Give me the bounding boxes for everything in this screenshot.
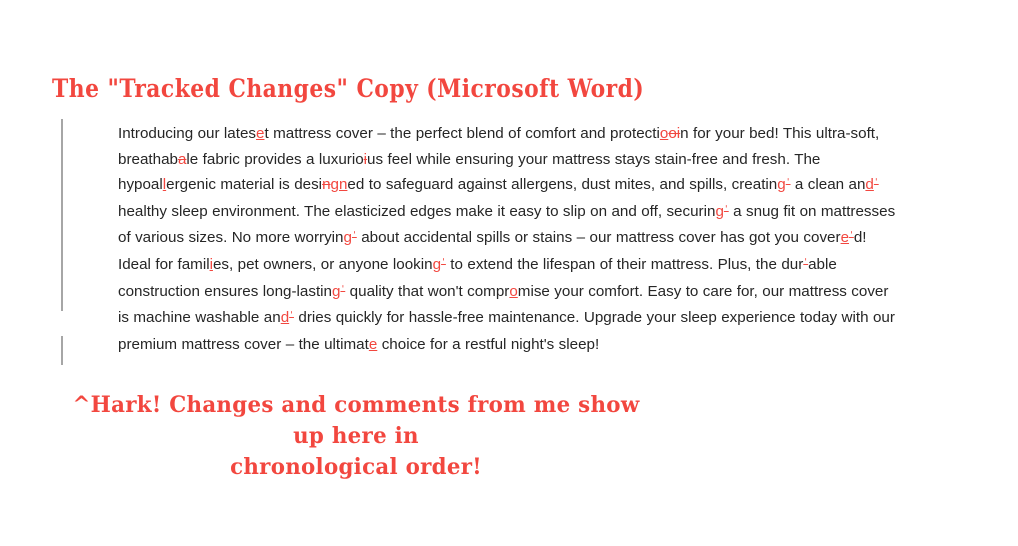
document-caption: ^Hark! Changes and comments from me show…: [55, 390, 656, 483]
body-text-run: quality that won't compr: [345, 283, 509, 300]
body-text-run: es, pet owners, or anyone lookin: [213, 256, 433, 273]
body-text-run: about accidental spills or stains – our …: [357, 229, 841, 246]
insertion-run: gn: [331, 176, 348, 193]
deletion-run: n: [322, 176, 330, 193]
body-text-run: le fabric provides a luxurio: [186, 151, 363, 168]
body-text-run: to extend the lifespan of their mattress…: [446, 256, 803, 273]
insertion-run: d: [281, 309, 289, 326]
body-text-run: healthy sleep environment. The elasticiz…: [118, 203, 715, 220]
tail-change-bar: [61, 336, 63, 365]
insertion-run: g: [777, 176, 785, 193]
deletion-mark: ˈ: [874, 177, 879, 193]
insertion-run: o: [509, 283, 517, 300]
insertion-run: g: [344, 229, 352, 246]
body-text-run: ed to safeguard against allergens, dust …: [347, 176, 777, 193]
body-text-run: Introducing our lates: [118, 125, 256, 142]
main-change-bar: [61, 119, 63, 311]
page-title: The "Tracked Changes" Copy (Microsoft Wo…: [52, 74, 644, 104]
body-text-run: choice for a restful night's sleep!: [377, 336, 599, 353]
body-text-run: t mattress cover – the perfect blend of …: [264, 125, 659, 142]
insertion-run: e: [841, 229, 849, 246]
insertion-run: d: [865, 176, 873, 193]
caption-line-1: ^Hark! Changes and comments from me show…: [73, 392, 640, 449]
tracked-changes-paragraph[interactable]: Introducing our lateset mattress cover –…: [118, 121, 898, 357]
caption-line-2: chronological order!: [230, 454, 482, 480]
document-page: The "Tracked Changes" Copy (Microsoft Wo…: [0, 0, 1018, 546]
body-text-run: a clean an: [791, 176, 866, 193]
body-text-run: ergenic material is desi: [166, 176, 322, 193]
insertion-run: g: [715, 203, 723, 220]
deletion-run: oi: [668, 125, 680, 142]
insertion-run: g: [433, 256, 441, 273]
